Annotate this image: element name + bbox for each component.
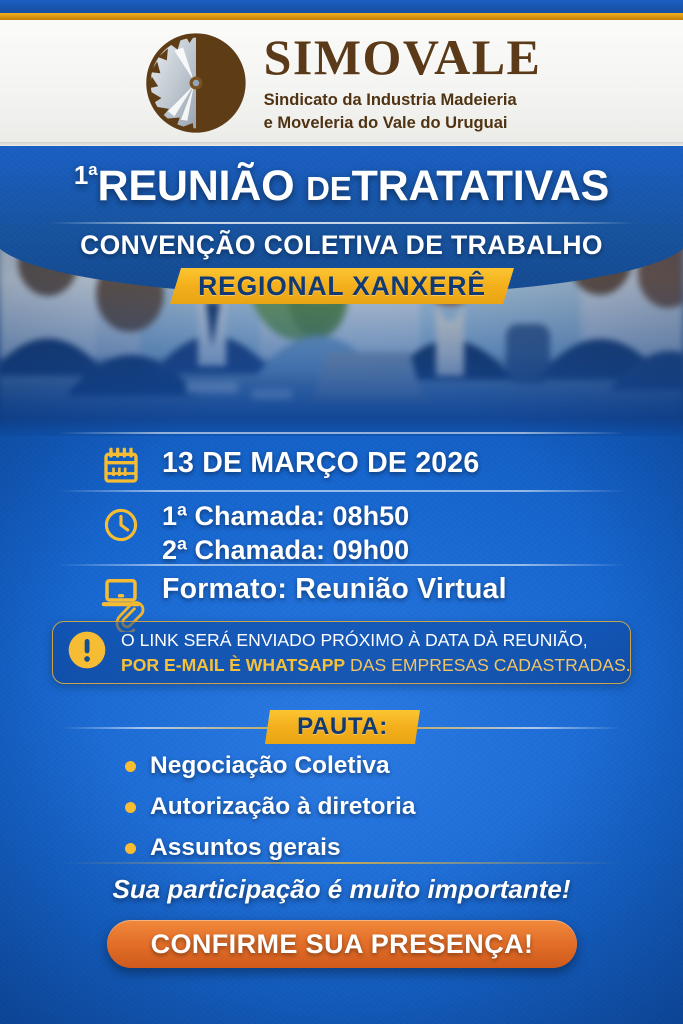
detail-row-format: Formato: Reunião Virtual <box>98 572 507 614</box>
detail-divider-2 <box>58 564 625 566</box>
title-divider <box>49 222 634 224</box>
bullet-icon <box>125 843 136 854</box>
top-gold-strip <box>0 13 683 20</box>
title-main: REUNIÃO <box>98 162 295 210</box>
closing-message: Sua participação é muito importante! <box>0 874 683 905</box>
notice-line-1: O LINK SERÁ ENVIADO PRÓXIMO À DATA DÀ RE… <box>121 628 631 652</box>
brand-tagline: Sindicato da Industria Madeieria e Movel… <box>264 89 542 135</box>
list-item: Assuntos gerais <box>125 834 415 862</box>
title-connector: DE <box>306 170 351 207</box>
detail-format-text: Formato: Reunião Virtual <box>162 572 507 608</box>
agenda-ribbon-label: PAUTA: <box>297 713 388 741</box>
detail-divider-1 <box>58 490 625 492</box>
calendar-icon <box>98 446 144 486</box>
detail-time-second-call: 2ª Chamada: 09h00 <box>162 534 409 568</box>
agenda-item-label: Negociação Coletiva <box>150 752 390 780</box>
notice-line-2-bold: POR E-MAIL È WHATSAPP <box>121 655 345 675</box>
page-subtitle: CONVENÇÃO COLETIVA DE TRABALHO <box>0 230 683 261</box>
event-poster: 1ªREUNIÃO DETRATATIVAS CONVENÇÃO COLETIV… <box>0 0 683 1024</box>
list-item: Negociação Coletiva <box>125 752 415 780</box>
detail-time-first-call: 1ª Chamada: 08h50 <box>162 500 409 534</box>
agenda-rule-right <box>411 727 621 729</box>
detail-date-text: 13 DE MARÇO DE 2026 <box>162 446 479 482</box>
notice-line-2: POR E-MAIL È WHATSAPP DAS EMPRESAS CADAS… <box>121 653 631 677</box>
agenda-ribbon: PAUTA: <box>265 710 420 744</box>
brand-tagline-line2: e Moveleria do Vale do Uruguai <box>264 112 542 135</box>
notice-box: O LINK SERÁ ENVIADO PRÓXIMO À DATA DÀ RE… <box>52 621 631 684</box>
title-tail: TRATATIVAS <box>352 162 610 210</box>
detail-row-date: 13 DE MARÇO DE 2026 <box>98 446 479 486</box>
saw-blade-tree-rings-logo-icon <box>142 29 250 137</box>
confirm-attendance-button[interactable]: CONFIRME SUA PRESENÇA! <box>107 920 577 968</box>
footer-divider <box>62 862 621 864</box>
brand-name: SIMOVALE <box>264 32 542 82</box>
bullet-icon <box>125 802 136 813</box>
region-ribbon: REGIONAL XANXERÊ <box>170 268 514 304</box>
agenda-rule-left <box>62 727 272 729</box>
list-item: Autorização à diretoria <box>125 793 415 821</box>
agenda-item-label: Autorização à diretoria <box>150 793 415 821</box>
title-ordinal: 1ª <box>74 160 98 190</box>
region-ribbon-label: REGIONAL XANXERÊ <box>198 271 486 302</box>
agenda-item-label: Assuntos gerais <box>150 834 341 862</box>
page-title: 1ªREUNIÃO DETRATATIVAS <box>0 160 683 211</box>
brand-header: SIMOVALE Sindicato da Industria Madeieri… <box>0 20 683 146</box>
alert-exclamation-icon <box>67 630 107 675</box>
detail-divider-top <box>58 432 625 434</box>
detail-time-block: 1ª Chamada: 08h50 2ª Chamada: 09h00 <box>162 500 409 568</box>
agenda-list: Negociação Coletiva Autorização à direto… <box>125 752 415 875</box>
detail-row-time: 1ª Chamada: 08h50 2ª Chamada: 09h00 <box>98 500 409 568</box>
notice-text: O LINK SERÁ ENVIADO PRÓXIMO À DATA DÀ RE… <box>121 628 631 677</box>
brand-tagline-line1: Sindicato da Industria Madeieria <box>264 89 542 112</box>
brand-text: SIMOVALE Sindicato da Industria Madeieri… <box>264 32 542 135</box>
notice-line-2-rest: DAS EMPRESAS CADASTRADAS. <box>345 655 630 675</box>
clock-icon <box>98 500 144 544</box>
bullet-icon <box>125 761 136 772</box>
top-blue-strip <box>0 0 683 13</box>
